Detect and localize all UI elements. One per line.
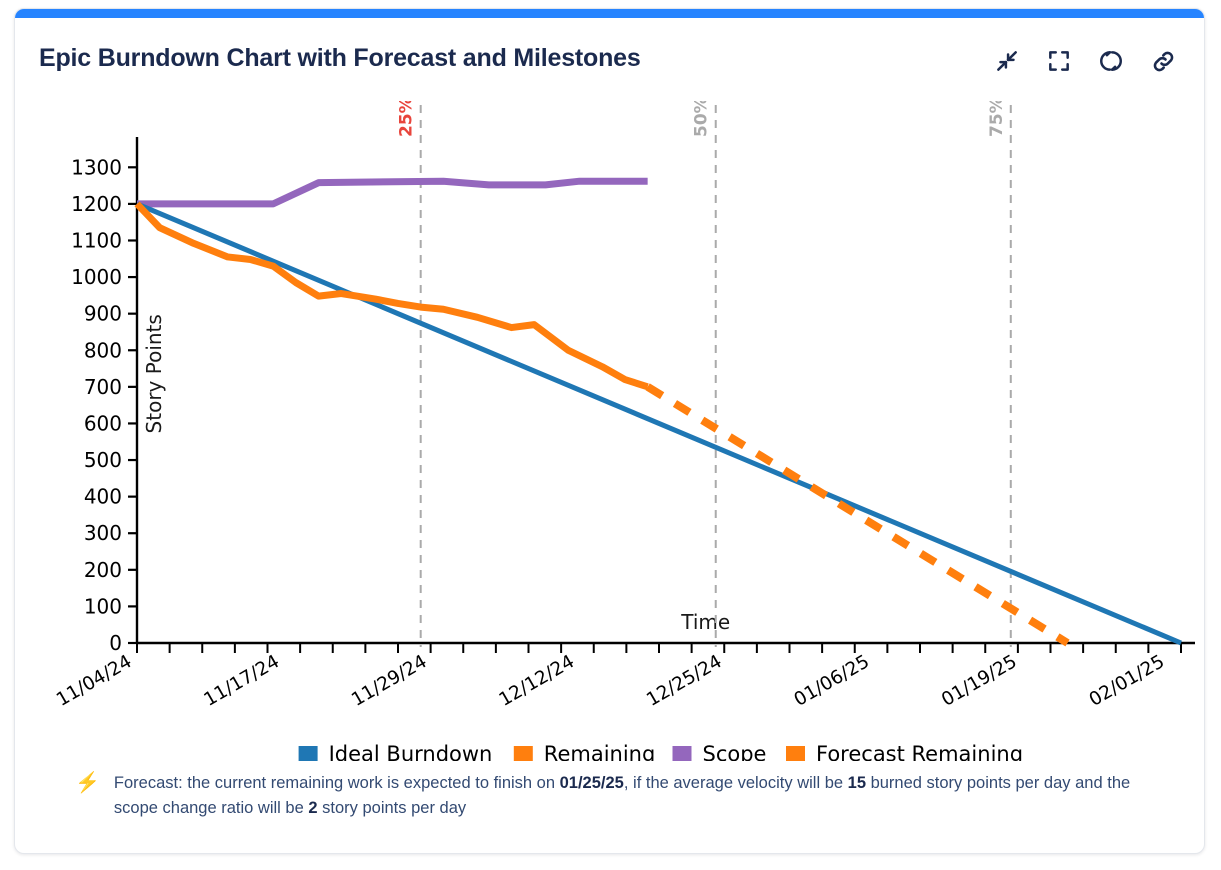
y-tick-label: 200 [84, 558, 122, 582]
y-tick-label: 100 [84, 594, 122, 618]
y-tick-label: 1200 [71, 192, 122, 216]
series-scope [137, 181, 648, 204]
legend-swatch [299, 746, 318, 761]
forecast-velocity: 15 [848, 774, 866, 792]
legend-label: Forecast Remaining [816, 742, 1023, 761]
forecast-note: ⚡ Forecast: the current remaining work i… [75, 771, 1175, 821]
x-tick-label: 11/17/24 [201, 651, 283, 711]
legend-swatch [673, 746, 692, 761]
y-tick-label: 600 [84, 411, 122, 435]
y-tick-label: 900 [84, 302, 122, 326]
legend-item: Ideal Burndown [299, 742, 493, 761]
series-ideal-burndown [137, 204, 1181, 643]
y-tick-label: 1300 [71, 155, 122, 179]
burndown-svg: 0100200300400500600700800900100011001200… [15, 101, 1205, 761]
y-tick-label: 500 [84, 448, 122, 472]
y-tick-label: 1100 [71, 228, 122, 252]
card-accent-bar [15, 9, 1204, 18]
x-tick-label: 02/01/25 [1086, 651, 1168, 711]
link-icon[interactable] [1148, 46, 1178, 76]
refresh-icon[interactable] [1096, 46, 1126, 76]
y-tick-label: 800 [84, 338, 122, 362]
x-tick-label: 12/12/24 [496, 651, 578, 711]
series-remaining [137, 204, 648, 387]
forecast-suffix: story points per day [318, 799, 467, 817]
x-tick-label: 11/29/24 [348, 651, 430, 711]
card-header: Epic Burndown Chart with Forecast and Mi… [15, 18, 1204, 96]
x-tick-label: 01/19/25 [938, 651, 1020, 711]
forecast-scope-ratio: 2 [308, 799, 317, 817]
x-tick-label: 11/04/24 [53, 651, 135, 711]
y-tick-label: 400 [84, 485, 122, 509]
forecast-note-text: Forecast: the current remaining work is … [114, 771, 1174, 821]
milestone-label: 75% [987, 101, 1007, 137]
burndown-chart-card: Epic Burndown Chart with Forecast and Mi… [14, 8, 1205, 854]
legend-swatch [514, 746, 533, 761]
forecast-prefix: Forecast: the current remaining work is … [114, 774, 560, 792]
y-tick-label: 700 [84, 375, 122, 399]
legend-label: Scope [703, 742, 767, 761]
y-tick-label: 1000 [71, 265, 122, 289]
fullscreen-icon[interactable] [1044, 46, 1074, 76]
legend-swatch [786, 746, 805, 761]
x-tick-label: 12/25/24 [643, 651, 725, 711]
legend-item: Scope [673, 742, 767, 761]
card-toolbar [992, 46, 1178, 76]
series-forecast-remaining [648, 387, 1068, 643]
collapse-icon[interactable] [992, 46, 1022, 76]
y-axis-title: Story Points [142, 314, 166, 433]
y-tick-label: 300 [84, 521, 122, 545]
page-title: Epic Burndown Chart with Forecast and Mi… [39, 44, 641, 73]
legend-label: Ideal Burndown [329, 742, 493, 761]
legend-item: Remaining [514, 742, 656, 761]
milestone-label: 25% [397, 101, 417, 137]
lightning-bolt-icon: ⚡ [75, 772, 100, 794]
y-tick-label: 0 [109, 631, 122, 655]
legend-item: Forecast Remaining [786, 742, 1023, 761]
legend-label: Remaining [544, 742, 656, 761]
x-tick-label: 01/06/25 [791, 651, 873, 711]
x-axis-title: Time [680, 610, 730, 634]
forecast-finish-date: 01/25/25 [560, 774, 624, 792]
milestone-label: 50% [692, 101, 712, 137]
chart-plot-area: 0100200300400500600700800900100011001200… [15, 101, 1205, 761]
screenshot-root: Epic Burndown Chart with Forecast and Mi… [0, 0, 1221, 870]
forecast-middle: , if the average velocity will be [624, 774, 848, 792]
